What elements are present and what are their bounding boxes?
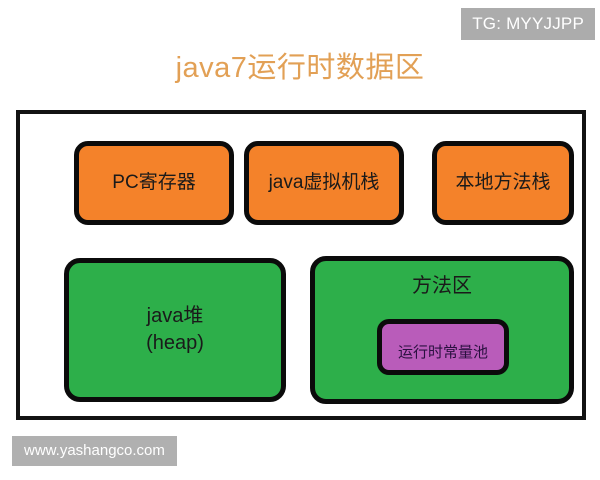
box-java-heap-label-line2: (heap) <box>146 330 204 357</box>
box-pc-register: PC寄存器 <box>74 141 234 225</box>
box-method-area-label: 方法区 <box>412 273 472 300</box>
box-runtime-constant-pool: 运行时常量池 <box>377 319 509 375</box>
box-method-area: 方法区 运行时常量池 <box>310 256 574 404</box>
runtime-data-area-frame: PC寄存器 java虚拟机栈 本地方法栈 java堆 (heap) 方法区 运行… <box>16 110 586 420</box>
box-java-heap-label-line1: java堆 <box>147 303 204 330</box>
box-native-method-stack: 本地方法栈 <box>432 141 574 225</box>
page-title: java7运行时数据区 <box>0 52 600 85</box>
box-jvm-stack: java虚拟机栈 <box>244 141 404 225</box>
site-watermark: www.yashangco.com <box>12 436 177 466</box>
box-pc-register-label: PC寄存器 <box>112 170 195 196</box>
box-jvm-stack-label: java虚拟机栈 <box>269 170 380 196</box>
box-java-heap: java堆 (heap) <box>64 258 286 402</box>
telegram-watermark: TG: MYYJJPP <box>461 8 595 40</box>
box-native-method-stack-label: 本地方法栈 <box>455 170 550 196</box>
box-runtime-constant-pool-label: 运行时常量池 <box>398 343 488 363</box>
